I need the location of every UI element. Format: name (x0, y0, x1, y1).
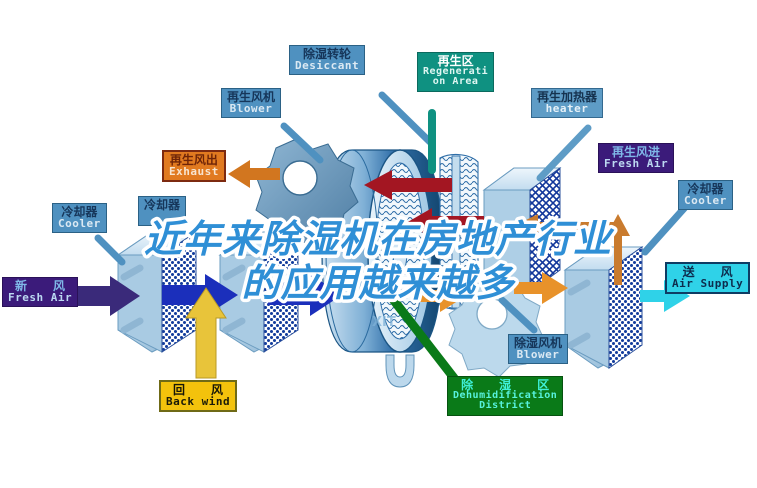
label-cooler-right[interactable]: 冷却器 Cooler (678, 180, 733, 210)
dehumidifier-schematic: XIT (0, 0, 757, 488)
label-dehum-blower-en: Blower (514, 349, 562, 360)
label-air-supply-en: Air Supply (672, 278, 743, 289)
label-cooler-mid[interactable]: 冷却器 (138, 196, 186, 226)
label-cooler-mid-cn: 冷却器 (144, 199, 180, 211)
label-air-supply[interactable]: 送 风 Air Supply (665, 262, 750, 294)
label-cooler-right-en: Cooler (684, 195, 727, 206)
label-fresh-air-in[interactable]: 新 风 Fresh Air (2, 277, 78, 307)
label-desiccant-wheel-en: Desiccant (295, 60, 359, 71)
label-regen-blower-en: Blower (227, 103, 275, 114)
label-regeneration-area-en2: on Area (423, 77, 488, 87)
label-dehum-blower[interactable]: 除湿风机 Blower (508, 334, 568, 364)
label-regen-blower[interactable]: 再生风机 Blower (221, 88, 281, 118)
label-cooler-left[interactable]: 冷却器 Cooler (52, 203, 107, 233)
label-regen-heater[interactable]: 再生加热器 heater (531, 88, 603, 118)
label-back-wind[interactable]: 回 风 Back wind (159, 380, 237, 412)
label-back-wind-en: Back wind (166, 396, 230, 407)
label-cooler-left-en: Cooler (58, 218, 101, 229)
label-exhaust-en: Exhaust (169, 166, 219, 177)
label-regen-air-in-en: Fresh Air (604, 158, 668, 169)
label-regeneration-area[interactable]: 再生区 Regenerati on Area (417, 52, 494, 92)
diagram-canvas: XIT (0, 0, 757, 488)
label-desiccant-wheel[interactable]: 除湿转轮 Desiccant (289, 45, 365, 75)
label-exhaust[interactable]: 再生风出 Exhaust (162, 150, 226, 182)
label-regen-heater-en: heater (537, 103, 597, 114)
svg-text:XIT: XIT (372, 315, 396, 330)
label-dehumidification-district-en2: District (453, 401, 557, 411)
cooler-unit-right (565, 247, 642, 368)
label-regen-air-in[interactable]: 再生风进 Fresh Air (598, 143, 674, 173)
label-dehumidification-district[interactable]: 除 湿 区 Dehumidification District (447, 376, 563, 416)
label-fresh-air-in-en: Fresh Air (8, 292, 72, 303)
